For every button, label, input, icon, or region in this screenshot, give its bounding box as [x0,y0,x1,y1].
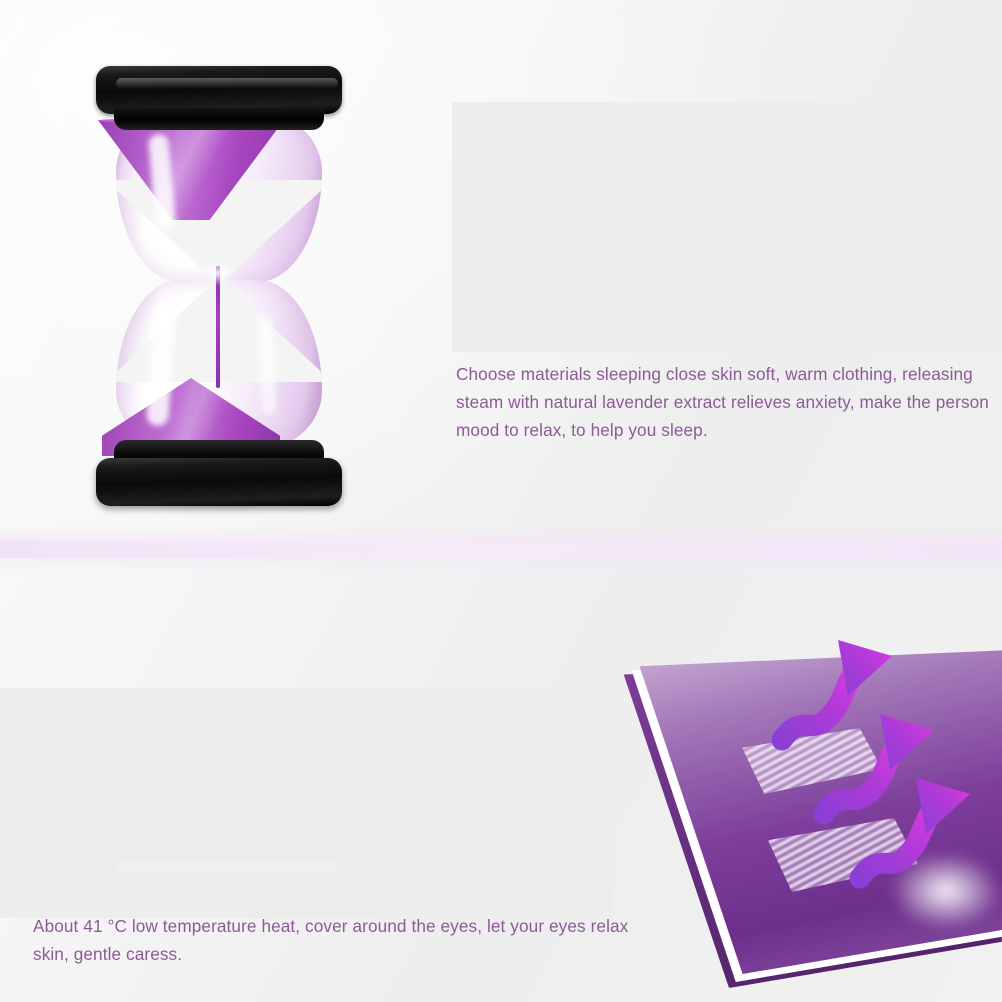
section-divider [0,541,1002,558]
top-description-text: Choose materials sleeping close skin sof… [456,360,996,444]
top-content-panel [452,102,1002,352]
product-feature-banner: Choose materials sleeping close skin sof… [0,0,1002,1002]
divider-glow-top [0,525,1002,541]
hourglass-bottom-cap [96,458,342,506]
hourglass-top-cap [96,66,342,114]
divider-glow-bottom [0,558,1002,572]
hourglass-illustration [88,58,350,506]
top-cap-highlight [116,78,338,89]
bottom-description-text: About 41 °C low temperature heat, cover … [33,912,633,968]
hourglass-neck [192,256,244,290]
bottom-content-panel [0,688,612,918]
steam-arrows [596,600,1002,1002]
steam-eye-mask-illustration [596,600,1002,1002]
hourglass-top-cap-lip [114,108,324,130]
bottom-cap-highlight [116,862,338,874]
